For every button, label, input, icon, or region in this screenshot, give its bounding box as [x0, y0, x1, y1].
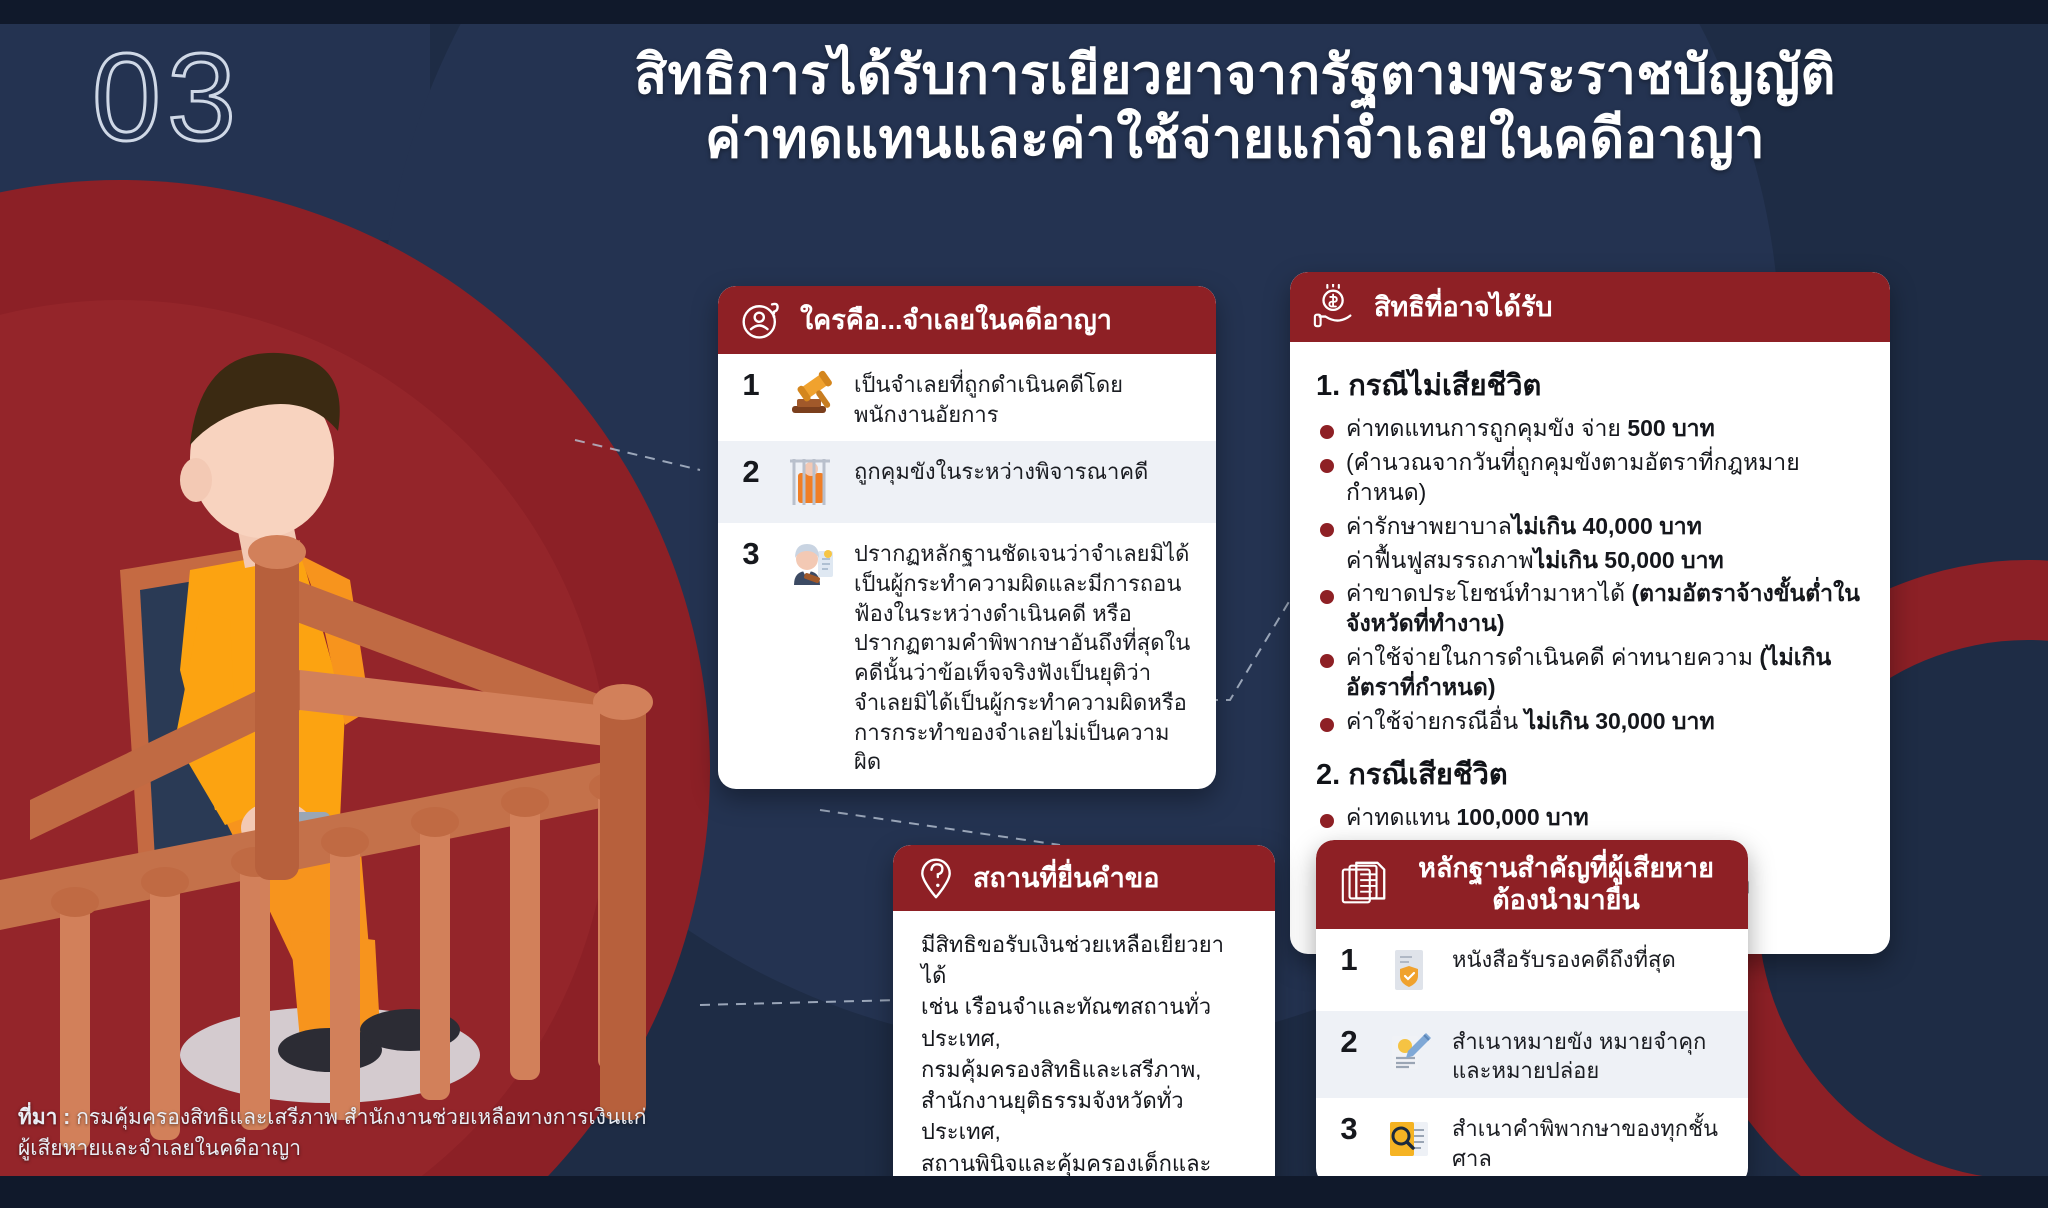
card-who-is-defendant: ใครคือ...จำเลยในคดีอาญา 1	[718, 286, 1216, 789]
section-number: 03	[92, 36, 242, 160]
document-magnifier-icon	[1380, 1110, 1438, 1168]
page-title: สิทธิการได้รับการเยียวยาจากรัฐตามพระราชบ…	[470, 44, 2000, 171]
place-line: เช่น เรือนจำและทัณฑสถานทั่วประเทศ,	[921, 991, 1249, 1053]
page-title-line-2: ค่าทดแทนและค่าใช้จ่ายแก่จำเลยในคดีอาญา	[470, 108, 2000, 172]
list-item: 2 ถูกคุมขังในระหว่างพิจาร	[718, 441, 1216, 523]
item-text: ปรากฏหลักฐานชัดเจนว่าจำเลยมิได้เป็นผู้กร…	[854, 535, 1196, 777]
section-title-no-death: 1. กรณีไม่เสียชีวิต	[1316, 362, 1866, 408]
top-band	[0, 0, 2048, 24]
item-number: 3	[1332, 1110, 1366, 1149]
infographic-slide: 03 สิทธิการได้รับการเยียวยาจากรัฐตามพระร…	[0, 0, 2048, 1208]
card-header-rights: สิทธิที่อาจได้รับ	[1290, 272, 1890, 342]
list-item: 1 หนังสือรับรองคดีถึงที่สุด	[1316, 929, 1748, 1011]
rights-item: ค่าใช้จ่ายกรณีอื่น ไม่เกิน 30,000 บาท	[1316, 707, 1866, 737]
source-text: กรมคุ้มครองสิทธิและเสรีภาพ สำนักงานช่วยเ…	[18, 1106, 646, 1159]
item-number: 3	[734, 535, 768, 574]
gavel-icon	[782, 366, 840, 424]
place-line: สำนักงานยุติธรรมจังหวัดทั่วประเทศ,	[921, 1085, 1249, 1147]
card-title-place: สถานที่ยื่นคำขอ	[973, 862, 1159, 894]
prisoner-behind-bars-icon	[782, 453, 840, 511]
documents-stack-icon	[1338, 858, 1390, 910]
item-number: 1	[734, 366, 768, 405]
item-text: ถูกคุมขังในระหว่างพิจารณาคดี	[854, 453, 1148, 487]
section-title-death: 2. กรณีเสียชีวิต	[1316, 751, 1866, 797]
card-header-defendant: ใครคือ...จำเลยในคดีอาญา	[718, 286, 1216, 354]
item-text: หนังสือรับรองคดีถึงที่สุด	[1452, 941, 1676, 975]
rights-list-no-death: ค่าทดแทนการถูกคุมขัง จ่าย 500 บาท (คำนวณ…	[1316, 414, 1866, 737]
card-header-place: สถานที่ยื่นคำขอ	[893, 845, 1275, 911]
rights-item: ค่าขาดประโยชน์ทำมาหาได้ (ตามอัตราจ้างขั้…	[1316, 579, 1866, 639]
rights-item: ค่าทดแทน 100,000 บาท	[1316, 803, 1866, 833]
document-pen-icon	[1380, 1023, 1438, 1081]
card-title-evidence: หลักฐานสำคัญที่ผู้เสียหาย ต้องนำมายื่น	[1406, 852, 1726, 917]
place-line: กรมคุ้มครองสิทธิและเสรีภาพ,	[921, 1054, 1249, 1085]
item-number: 2	[1332, 1023, 1366, 1062]
card-title-evidence-line-1: หลักฐานสำคัญที่ผู้เสียหาย	[1406, 852, 1726, 884]
card-title-defendant: ใครคือ...จำเลยในคดีอาญา	[800, 304, 1112, 336]
item-text: เป็นจำเลยที่ถูกดำเนินคดีโดยพนักงานอัยการ	[854, 366, 1196, 429]
card-body-place: มีสิทธิขอรับเงินช่วยเหลือเยียวยาได้ เช่น…	[893, 911, 1275, 1208]
page-title-line-1: สิทธิการได้รับการเยียวยาจากรัฐตามพระราชบ…	[470, 44, 2000, 108]
item-text: สำเนาคำพิพากษาของทุกชั้นศาล	[1452, 1110, 1728, 1173]
item-number: 2	[734, 453, 768, 492]
card-title-rights: สิทธิที่อาจได้รับ	[1374, 291, 1553, 323]
source-credit: ที่มา : กรมคุ้มครองสิทธิและเสรีภาพ สำนัก…	[18, 1103, 658, 1164]
hand-holding-coin-icon	[1312, 284, 1358, 330]
card-where-to-apply: สถานที่ยื่นคำขอ มีสิทธิขอรับเงินช่วยเหลื…	[893, 845, 1275, 1208]
place-line: มีสิทธิขอรับเงินช่วยเหลือเยียวยาได้	[921, 929, 1249, 991]
rights-item: ค่าทดแทนการถูกคุมขัง จ่าย 500 บาท	[1316, 414, 1866, 444]
item-number: 1	[1332, 941, 1366, 980]
rights-item: ค่าฟื้นฟูสมรรถภาพไม่เกิน 50,000 บาท	[1316, 546, 1866, 576]
card-header-evidence: หลักฐานสำคัญที่ผู้เสียหาย ต้องนำมายื่น	[1316, 840, 1748, 929]
location-pin-question-icon	[915, 857, 957, 899]
card-body-evidence: 1 หนังสือรับรองคดีถึงที่สุด 2	[1316, 929, 1748, 1186]
card-required-evidence: หลักฐานสำคัญที่ผู้เสียหาย ต้องนำมายื่น 1…	[1316, 840, 1748, 1186]
person-question-icon	[740, 298, 784, 342]
source-label: ที่มา :	[18, 1106, 70, 1129]
list-item: 3 ปรากฏหลักฐานชัดเจนว่าจำเลยมิได้เป็นผู้…	[718, 523, 1216, 789]
list-item: 1 เป็นจำเลยที่ถูกดำเนินคดีโดยพนักงานอัยก	[718, 354, 1216, 441]
rights-item: ค่าใช้จ่ายในการดำเนินคดี ค่าทนายความ (ไม…	[1316, 643, 1866, 703]
rights-item: (คำนวณจากวันที่ถูกคุมขังตามอัตราที่กฎหมา…	[1316, 448, 1866, 508]
rights-item: ค่ารักษาพยาบาลไม่เกิน 40,000 บาท	[1316, 512, 1866, 542]
card-body-defendant: 1 เป็นจำเลยที่ถูกดำเนินคดีโดยพนักงานอัยก	[718, 354, 1216, 789]
item-text: สำเนาหมายขัง หมายจำคุก และหมายปล่อย	[1452, 1023, 1706, 1086]
card-title-evidence-line-2: ต้องนำมายื่น	[1406, 884, 1726, 916]
list-item: 3 สำเนาคำพิพากษาของทุกชั้นศาล	[1316, 1098, 1748, 1185]
certificate-shield-icon	[1380, 941, 1438, 999]
judge-icon	[782, 535, 840, 593]
bottom-band	[0, 1176, 2048, 1208]
list-item: 2 สำเนาหมายขัง หมายจำคุก และหมายปล่อย	[1316, 1011, 1748, 1098]
